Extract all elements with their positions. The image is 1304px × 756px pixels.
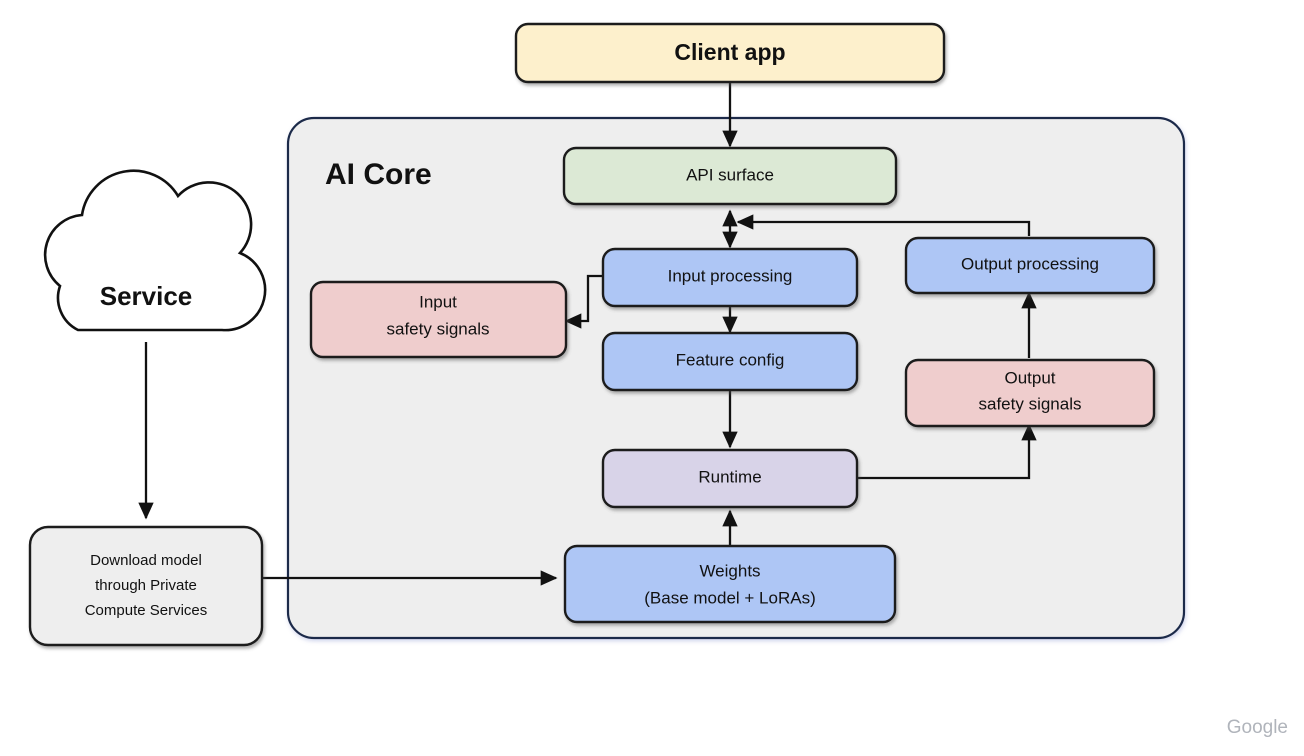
output-processing-label: Output processing: [961, 254, 1099, 273]
node-weights[interactable]: Weights (Base model + LoRAs): [565, 546, 895, 622]
diagram-canvas: AI Core: [0, 0, 1304, 756]
node-input-safety-signals[interactable]: Input safety signals: [311, 282, 566, 357]
weights-box[interactable]: [565, 546, 895, 622]
runtime-label: Runtime: [698, 467, 761, 486]
node-output-safety-signals[interactable]: Output safety signals: [906, 360, 1154, 426]
weights-label-line1: Weights: [699, 561, 760, 580]
node-client-app[interactable]: Client app: [516, 24, 944, 82]
download-model-label-line2: through Private: [95, 577, 197, 594]
weights-label-line2: (Base model + LoRAs): [644, 588, 816, 607]
google-watermark: Google: [1227, 717, 1288, 738]
node-download-model[interactable]: Download model through Private Compute S…: [30, 527, 262, 645]
node-api-surface[interactable]: API surface: [564, 148, 896, 204]
download-model-label-line1: Download model: [90, 552, 202, 569]
node-output-processing[interactable]: Output processing: [906, 238, 1154, 293]
api-surface-label: API surface: [686, 165, 774, 184]
node-service-cloud[interactable]: Service: [45, 171, 265, 330]
node-runtime[interactable]: Runtime: [603, 450, 857, 507]
node-input-processing[interactable]: Input processing: [603, 249, 857, 306]
output-safety-signals-label-line1: Output: [1004, 368, 1055, 387]
output-safety-signals-label-line2: safety signals: [979, 394, 1082, 413]
download-model-label-line3: Compute Services: [85, 602, 208, 619]
ai-core-architecture-diagram: AI Core: [0, 0, 1304, 756]
input-processing-label: Input processing: [668, 266, 793, 285]
node-feature-config[interactable]: Feature config: [603, 333, 857, 390]
service-cloud-label: Service: [100, 281, 193, 311]
input-safety-signals-label-line2: safety signals: [387, 319, 490, 338]
client-app-label: Client app: [674, 39, 785, 65]
feature-config-label: Feature config: [676, 350, 785, 369]
input-safety-signals-label-line1: Input: [419, 292, 457, 311]
ai-core-title: AI Core: [325, 158, 432, 191]
